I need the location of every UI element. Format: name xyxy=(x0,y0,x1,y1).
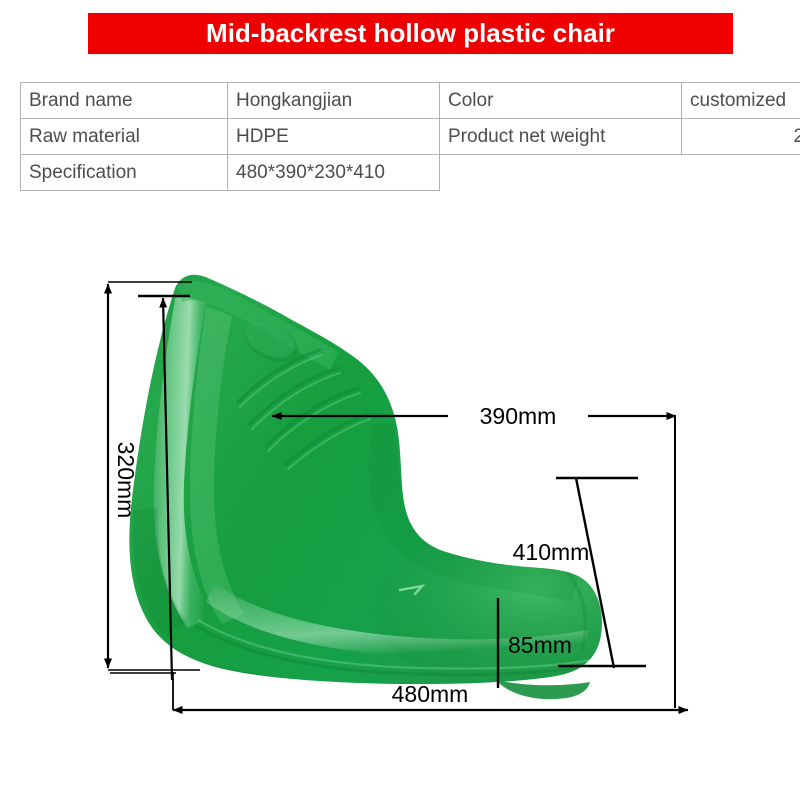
dim-label-390: 390mm xyxy=(480,403,557,429)
chair-bottom-tab xyxy=(496,680,590,699)
cell-empty-1 xyxy=(440,155,682,191)
table-row: Brand name Hongkangjian Color customized xyxy=(21,83,800,119)
specification-table: Brand name Hongkangjian Color customized… xyxy=(20,82,800,191)
cell-net-weight-value: 2.1kg xyxy=(682,119,800,155)
cell-color-value: customized xyxy=(682,83,800,119)
title-banner: Mid-backrest hollow plastic chair xyxy=(88,13,733,54)
cell-brand-name-value: Hongkangjian xyxy=(228,83,440,119)
cell-raw-material-label: Raw material xyxy=(21,119,228,155)
cell-color-label: Color xyxy=(440,83,682,119)
table-row: Raw material HDPE Product net weight 2.1… xyxy=(21,119,800,155)
dim-label-410: 410mm xyxy=(513,539,590,565)
product-dimension-diagram: 320mm 390mm 410mm 85mm 480mm xyxy=(0,210,800,770)
dim-label-85: 85mm xyxy=(508,632,572,658)
page-title: Mid-backrest hollow plastic chair xyxy=(206,18,615,49)
cell-empty-2 xyxy=(682,155,800,191)
table-row: Specification 480*390*230*410 xyxy=(21,155,800,191)
cell-net-weight-label: Product net weight xyxy=(440,119,682,155)
product-spec-page: Mid-backrest hollow plastic chair Brand … xyxy=(0,0,800,800)
dim-label-480: 480mm xyxy=(392,681,469,707)
dim-label-320: 320mm xyxy=(113,442,139,519)
cell-brand-name-label: Brand name xyxy=(21,83,228,119)
cell-raw-material-value: HDPE xyxy=(228,119,440,155)
cell-specification-label: Specification xyxy=(21,155,228,191)
cell-specification-value: 480*390*230*410 xyxy=(228,155,440,191)
